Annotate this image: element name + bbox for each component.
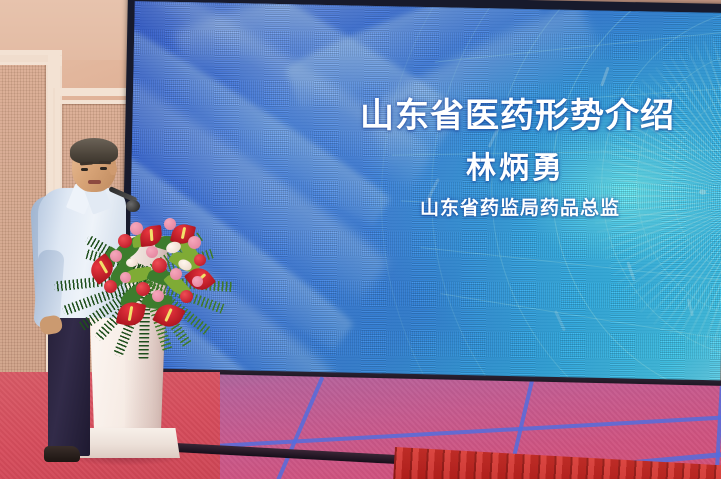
- speaker-eye-right: [100, 167, 107, 170]
- speaker-brow-right: [99, 161, 111, 165]
- slide-speaker-name: 林炳勇: [466, 143, 565, 187]
- wall-trim-corner: [50, 56, 62, 66]
- photo-scene: 山东省医药形势介绍 林炳勇 山东省药监局药品总监: [0, 0, 721, 479]
- floral-arrangement: [60, 206, 235, 356]
- speaker-shoe: [44, 446, 80, 462]
- slide-speaker-role: 山东省药监局药品总监: [420, 193, 620, 220]
- speaker-eye-left: [81, 168, 88, 171]
- speaker-ear: [109, 163, 117, 175]
- slide-title: 山东省医药形势介绍: [360, 88, 675, 137]
- speaker-mouth: [88, 180, 101, 184]
- speaker-hair: [70, 138, 118, 164]
- wall-trim-horizontal-2: [0, 62, 50, 65]
